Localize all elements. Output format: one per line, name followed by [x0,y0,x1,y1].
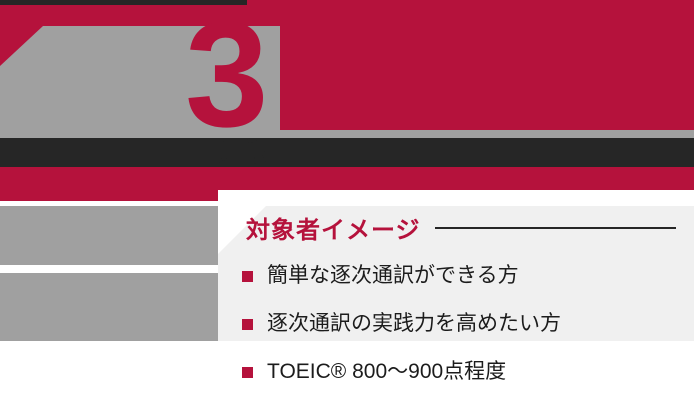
bullet-label: 逐次通訳の実践力を高めたい方 [267,311,561,336]
target-audience-bullet-list: 簡単な逐次通訳ができる方 逐次通訳の実践力を高めたい方 TOEIC® 800〜9… [242,252,692,396]
banner-dark-title-band: 通訳 [0,138,694,168]
list-item: 簡単な逐次通訳ができる方 [242,252,692,300]
target-audience-heading: 対象者イメージ [246,210,421,245]
bullet-label: 簡単な逐次通訳ができる方 [267,263,519,288]
left-gray-block-lower [0,273,218,341]
square-bullet-icon [242,319,253,330]
banner-gray-slab-extension [0,130,694,138]
square-bullet-icon [242,271,253,282]
course-target-audience-panel: 3 通訳 対象者イメージ 簡単な逐次通訳ができる方 逐次通訳の実践力を高めたい方… [0,0,694,404]
bullet-label: TOEIC® 800〜900点程度 [267,359,506,384]
heading-rule-divider [435,227,676,229]
target-audience-card-body: 対象者イメージ 簡単な逐次通訳ができる方 逐次通訳の実践力を高めたい方 TOEI… [218,196,694,404]
square-bullet-icon [242,367,253,378]
banner-crimson-underline-left-extension [0,167,218,201]
left-gray-block-upper [0,206,218,265]
banner-clipped-title-text: 通訳 [218,138,270,168]
target-audience-heading-row: 対象者イメージ [246,210,676,245]
list-item: 逐次通訳の実践力を高めたい方 [242,300,692,348]
list-item: TOEIC® 800〜900点程度 [242,348,692,396]
course-number-numeral: 3 [185,18,305,133]
